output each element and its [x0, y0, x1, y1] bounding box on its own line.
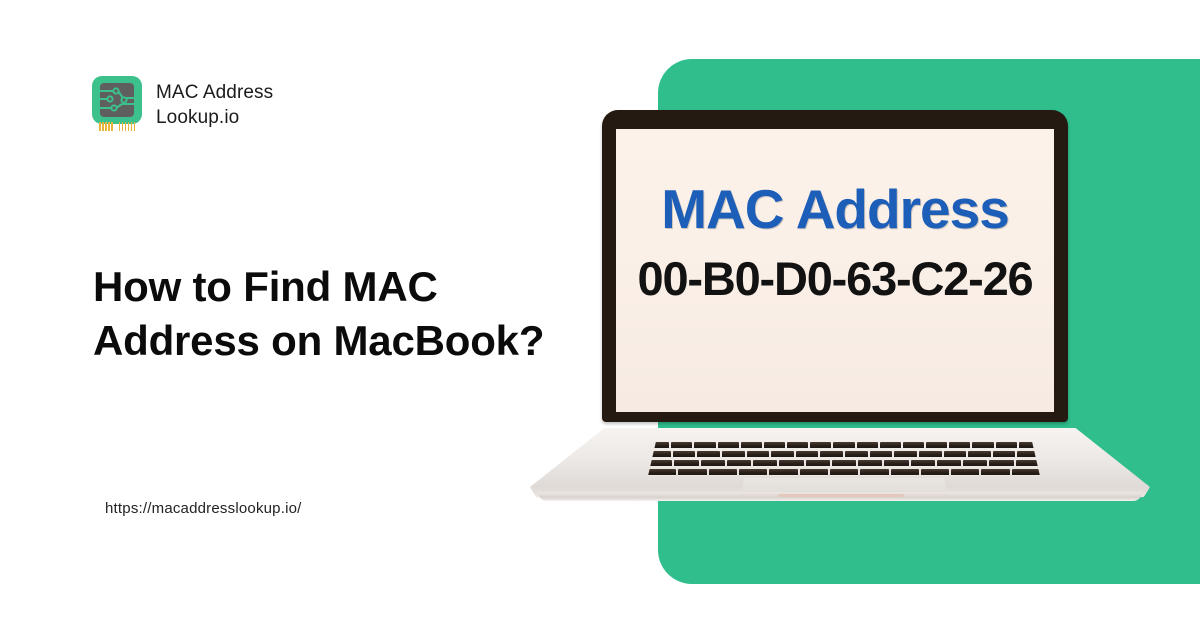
chip-inner-die [100, 83, 134, 117]
laptop-keyboard [648, 442, 1040, 476]
laptop-screen: MAC Address 00-B0-D0-63-C2-26 [616, 129, 1054, 412]
laptop-base [530, 416, 1150, 508]
brand-name: MAC Address Lookup.io [156, 80, 273, 130]
circuit-trace-svg [100, 83, 134, 117]
og-image-canvas: MAC Address Lookup.io How to Find MAC Ad… [0, 0, 1200, 630]
laptop-lid: MAC Address 00-B0-D0-63-C2-26 [602, 110, 1068, 422]
chip-circuit-icon [92, 76, 142, 134]
brand-lockup[interactable]: MAC Address Lookup.io [92, 76, 273, 134]
site-url[interactable]: https://macaddresslookup.io/ [105, 500, 302, 517]
chip-pins [99, 122, 135, 131]
laptop-deck [530, 428, 1150, 500]
screen-title: MAC Address [661, 177, 1009, 241]
macbook-illustration: MAC Address 00-B0-D0-63-C2-26 [530, 110, 1150, 510]
laptop-front-notch [778, 494, 904, 497]
screen-mac-address: 00-B0-D0-63-C2-26 [638, 251, 1033, 306]
